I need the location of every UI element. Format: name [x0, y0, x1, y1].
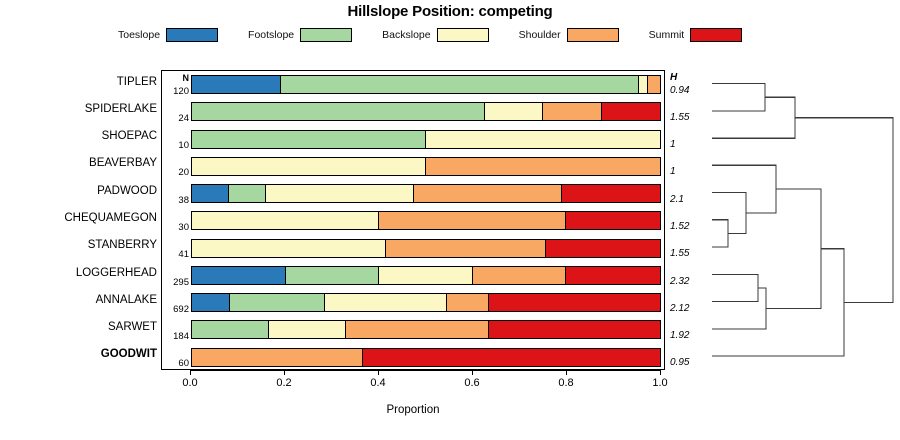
legend-item-backslope[interactable]: Backslope — [382, 28, 488, 42]
n-value-sarwet: 184 — [162, 331, 189, 342]
bar-segment[interactable] — [192, 294, 230, 311]
table-row: 24 — [162, 98, 666, 125]
bar-segment[interactable] — [269, 321, 346, 338]
n-value-loggerhead: 295 — [162, 277, 189, 288]
stacked-bar-sarwet[interactable] — [191, 320, 661, 339]
x-axis-tick-label: 0.6 — [452, 377, 492, 389]
n-value-spiderlake: 24 — [162, 113, 189, 124]
bar-segment[interactable] — [379, 212, 566, 229]
x-axis-tick-label: 0.4 — [358, 377, 398, 389]
x-axis-tick — [472, 370, 473, 375]
y-axis-label-padwood[interactable]: PADWOOD — [0, 185, 157, 197]
dendro-join-loggerhead-annalake — [712, 274, 758, 301]
table-row: 295 — [162, 262, 666, 289]
x-axis-line — [190, 370, 660, 371]
n-value-goodwit: 60 — [162, 358, 189, 369]
dendrogram-svg — [666, 70, 900, 370]
table-row: 10 — [162, 126, 666, 153]
table-row: 41 — [162, 235, 666, 262]
stacked-bar-loggerhead[interactable] — [191, 266, 661, 285]
bar-segment[interactable] — [192, 158, 426, 175]
legend-swatch — [567, 28, 619, 42]
bar-segment[interactable] — [192, 321, 269, 338]
bar-segment[interactable] — [192, 103, 485, 120]
y-axis-label-stanberry[interactable]: STANBERRY — [0, 239, 157, 251]
bar-segment[interactable] — [566, 212, 660, 229]
table-row: 20 — [162, 153, 666, 180]
n-value-shoepac: 10 — [162, 140, 189, 151]
bar-segment[interactable] — [602, 103, 661, 120]
table-row: 30 — [162, 207, 666, 234]
n-value-tipler: 120 — [162, 86, 189, 97]
bar-segment[interactable] — [325, 294, 447, 311]
dendro-join-a-shoepac — [712, 97, 795, 138]
y-axis-labels: TIPLERSPIDERLAKESHOEPACBEAVERBAYPADWOODC… — [0, 70, 157, 370]
legend-label: Shoulder — [519, 29, 561, 41]
bar-segment[interactable] — [639, 76, 648, 93]
x-axis-tick — [284, 370, 285, 375]
bar-segment[interactable] — [379, 267, 473, 284]
stacked-bar-goodwit[interactable] — [191, 348, 661, 367]
bar-segment[interactable] — [192, 349, 363, 366]
y-axis-label-annalake[interactable]: ANNALAKE — [0, 294, 157, 306]
legend-item-shoulder[interactable]: Shoulder — [519, 28, 619, 42]
dendro-join-c-beaverbay — [712, 165, 776, 213]
bar-segment[interactable] — [363, 349, 660, 366]
n-value-padwood: 38 — [162, 195, 189, 206]
bar-segment[interactable] — [346, 321, 489, 338]
stacked-bar-annalake[interactable] — [191, 293, 661, 312]
x-axis-tick-label: 1.0 — [640, 377, 680, 389]
dendro-join-mid — [766, 189, 821, 308]
legend-item-summit[interactable]: Summit — [649, 28, 743, 42]
y-axis-label-beaverbay[interactable]: BEAVERBAY — [0, 157, 157, 169]
y-axis-label-shoepac[interactable]: SHOEPAC — [0, 130, 157, 142]
bar-segment[interactable] — [447, 294, 489, 311]
bar-segment[interactable] — [648, 76, 660, 93]
bar-segment[interactable] — [543, 103, 602, 120]
legend-item-footslope[interactable]: Footslope — [248, 28, 352, 42]
x-axis-tick — [378, 370, 379, 375]
x-axis-tick-label: 0.0 — [170, 377, 210, 389]
bar-segment[interactable] — [489, 294, 660, 311]
legend: ToeslopeFootslopeBackslopeShoulderSummit — [118, 26, 818, 44]
stacked-bar-spiderlake[interactable] — [191, 102, 661, 121]
bar-segment[interactable] — [192, 185, 229, 202]
table-row: 692 — [162, 289, 666, 316]
bar-segment[interactable] — [485, 103, 544, 120]
n-value-beaverbay: 20 — [162, 167, 189, 178]
stacked-bar-beaverbay[interactable] — [191, 157, 661, 176]
y-axis-label-chequamegon[interactable]: CHEQUAMEGON — [0, 212, 157, 224]
hillslope-position-figure: Hillslope Position: competing ToeslopeFo… — [0, 0, 900, 440]
bar-segment[interactable] — [230, 294, 325, 311]
n-value-stanberry: 41 — [162, 249, 189, 260]
stacked-bar-panel: N 12024102038304129569218460 — [161, 70, 665, 370]
table-row: 38 — [162, 180, 666, 207]
bar-segment[interactable] — [562, 185, 660, 202]
legend-label: Backslope — [382, 29, 430, 41]
bar-segment[interactable] — [546, 240, 660, 257]
bar-segment[interactable] — [229, 185, 266, 202]
stacked-bar-padwood[interactable] — [191, 184, 661, 203]
bar-segment[interactable] — [192, 212, 379, 229]
bar-segment[interactable] — [414, 185, 562, 202]
legend-label: Footslope — [248, 29, 294, 41]
bar-segment[interactable] — [473, 267, 567, 284]
legend-label: Summit — [649, 29, 685, 41]
dendro-join-mid-goodwit — [712, 249, 844, 356]
table-row: 184 — [162, 316, 666, 343]
y-axis-label-goodwit[interactable]: GOODWIT — [0, 348, 157, 360]
stacked-bar-shoepac[interactable] — [191, 130, 661, 149]
stacked-bar-tipler[interactable] — [191, 75, 661, 94]
dendro-join-stanberry-chequamegon — [712, 220, 728, 247]
legend-swatch — [437, 28, 489, 42]
bar-segment[interactable] — [489, 321, 660, 338]
page-title: Hillslope Position: competing — [0, 3, 900, 20]
table-row: 60 — [162, 344, 666, 371]
stacked-bar-chequamegon[interactable] — [191, 211, 661, 230]
bar-segment[interactable] — [266, 185, 414, 202]
legend-swatch — [690, 28, 742, 42]
legend-label: Toeslope — [118, 29, 160, 41]
dendro-join-tipler-spiderlake — [712, 84, 765, 111]
bar-segment[interactable] — [426, 158, 660, 175]
y-axis-label-spiderlake[interactable]: SPIDERLAKE — [0, 103, 157, 115]
y-axis-label-sarwet[interactable]: SARWET — [0, 321, 157, 333]
legend-item-toeslope[interactable]: Toeslope — [118, 28, 218, 42]
y-axis-label-tipler[interactable]: TIPLER — [0, 76, 157, 88]
bar-segment[interactable] — [286, 267, 380, 284]
x-axis-tick — [190, 370, 191, 375]
legend-swatch — [300, 28, 352, 42]
n-value-annalake: 692 — [162, 304, 189, 315]
bar-segment[interactable] — [386, 240, 546, 257]
bar-segment[interactable] — [566, 267, 660, 284]
x-axis-tick — [566, 370, 567, 375]
y-axis-label-loggerhead[interactable]: LOGGERHEAD — [0, 267, 157, 279]
x-axis-tick-label: 0.2 — [264, 377, 304, 389]
dendrogram — [666, 70, 900, 370]
x-axis-tick-label: 0.8 — [546, 377, 586, 389]
bar-segment[interactable] — [192, 267, 286, 284]
legend-swatch — [166, 28, 218, 42]
bar-segment[interactable] — [192, 131, 426, 148]
stacked-bar-stanberry[interactable] — [191, 239, 661, 258]
bar-segment[interactable] — [426, 131, 660, 148]
bar-segment[interactable] — [281, 76, 639, 93]
x-axis-title: Proportion — [161, 404, 665, 416]
x-axis-tick — [660, 370, 661, 375]
table-row: 120 — [162, 71, 666, 98]
bar-segment[interactable] — [192, 76, 281, 93]
bar-segment[interactable] — [192, 240, 386, 257]
n-value-chequamegon: 30 — [162, 222, 189, 233]
dendro-join-b-padwood — [712, 193, 746, 234]
